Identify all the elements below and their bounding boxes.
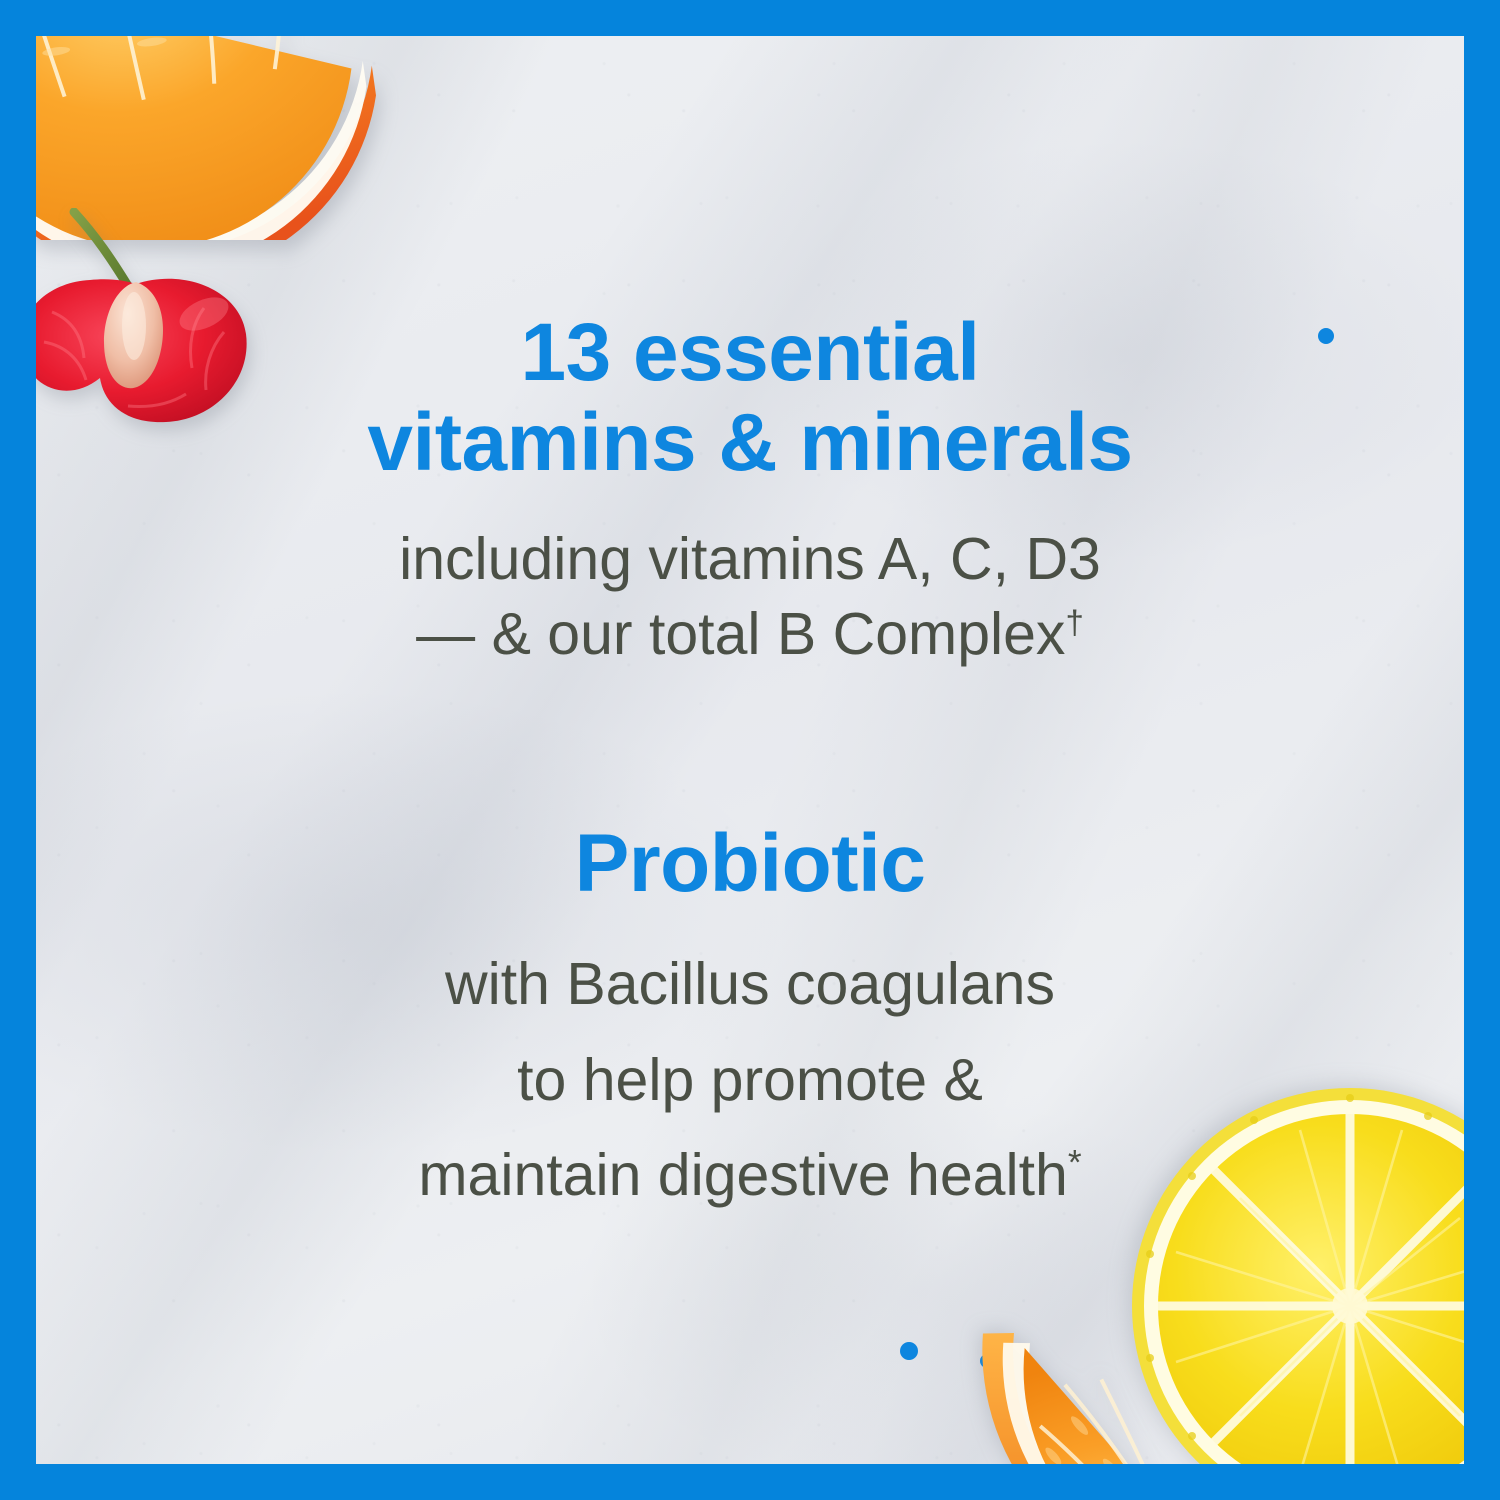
headline-probiotic: Probiotic bbox=[575, 819, 926, 909]
poster-frame: 13 essential vitamins & minerals includi… bbox=[0, 0, 1500, 1500]
subcopy-vitamins-line1: including vitamins A, C, D3 bbox=[399, 526, 1101, 592]
marble-canvas: 13 essential vitamins & minerals includi… bbox=[36, 36, 1464, 1464]
headline-vitamins-line1: 13 essential bbox=[521, 307, 980, 398]
headline-vitamins: 13 essential vitamins & minerals bbox=[367, 308, 1132, 488]
copy-block: 13 essential vitamins & minerals includi… bbox=[36, 36, 1464, 1464]
subcopy-probiotic-line2: to help promote & bbox=[517, 1047, 983, 1113]
subcopy-probiotic-line1: with Bacillus coagulans bbox=[445, 951, 1055, 1017]
subcopy-probiotic: with Bacillus coagulans to help promote … bbox=[418, 937, 1081, 1224]
dagger-marker: † bbox=[1065, 604, 1083, 641]
subcopy-vitamins-line2: — & our total B Complex bbox=[416, 601, 1065, 667]
subcopy-vitamins: including vitamins A, C, D3 — & our tota… bbox=[399, 522, 1101, 671]
asterisk-marker: * bbox=[1068, 1143, 1082, 1183]
subcopy-probiotic-line3: maintain digestive health bbox=[418, 1142, 1067, 1208]
headline-vitamins-line2: vitamins & minerals bbox=[367, 397, 1132, 488]
